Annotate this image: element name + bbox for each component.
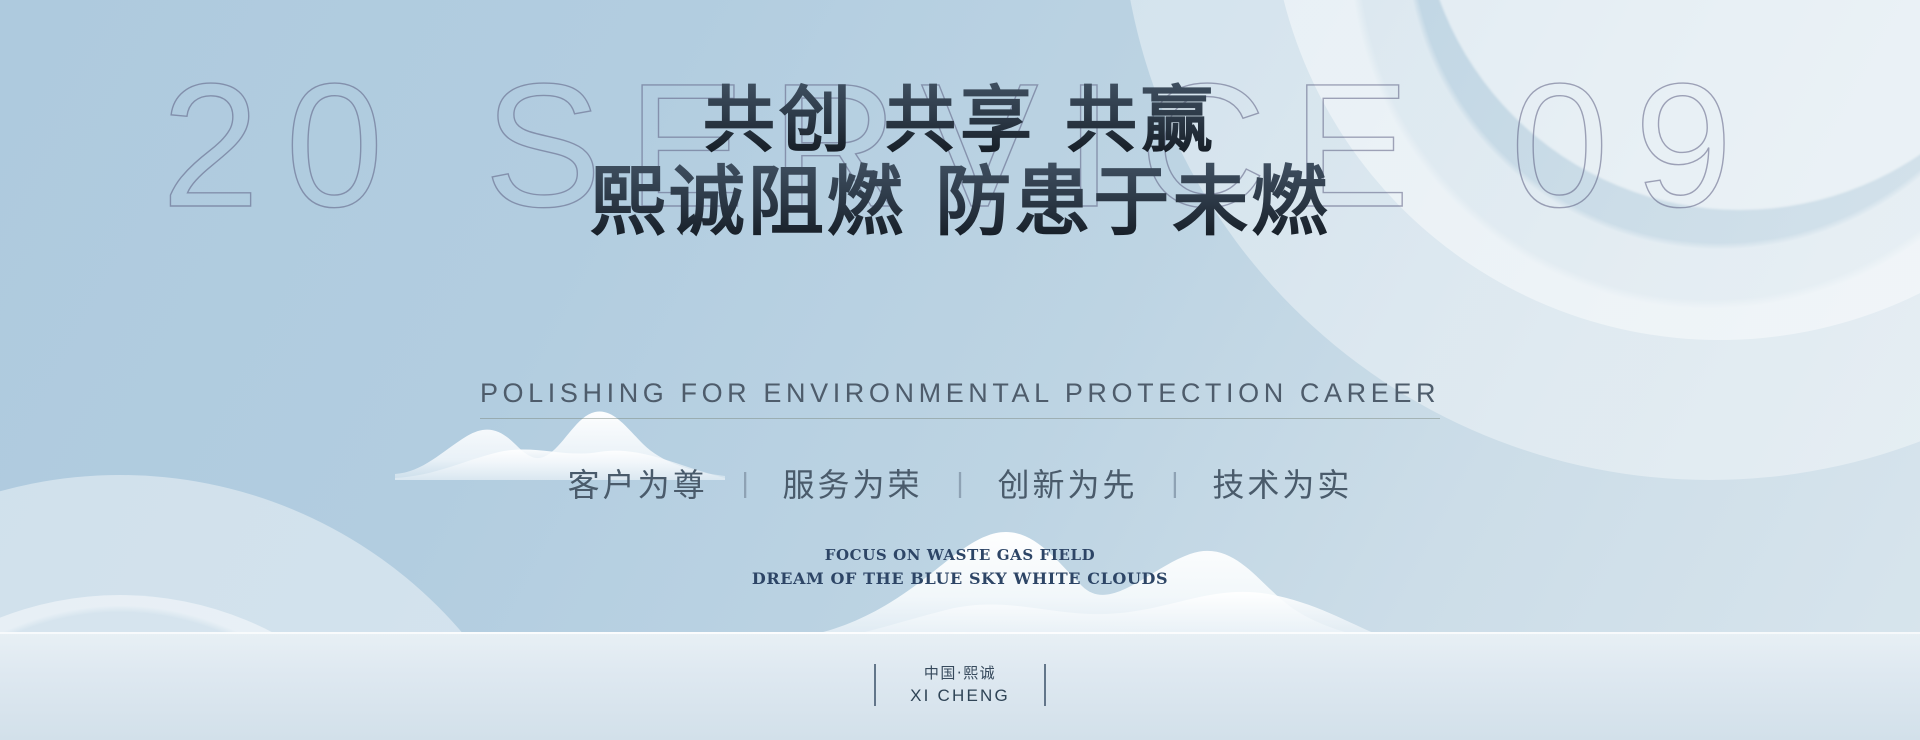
banner-canvas: 20 SERVICE 09 共创 共享 共赢 熙诚阻燃 防患于未燃 POLISH…	[0, 0, 1920, 740]
brand-name: 中国·熙诚 XI CHENG	[910, 662, 1010, 707]
brand-name-cn: 中国·熙诚	[910, 662, 1010, 685]
value-item-4: 技术为实	[1212, 460, 1352, 506]
strapline-text: POLISHING FOR ENVIRONMENTAL PROTECTION C…	[480, 378, 1440, 419]
sub-serif-line-2: DREAM OF THE BLUE SKY WHITE CLOUDS	[0, 567, 1920, 590]
value-separator-2: |	[927, 467, 993, 499]
values-row: 客户为尊 | 服务为荣 | 创新为先 | 技术为实	[0, 460, 1920, 506]
headline-line-1: 共创 共享 共赢	[0, 82, 1920, 158]
lockup-rule-left	[874, 664, 876, 706]
value-item-2: 服务为荣	[783, 460, 923, 506]
lockup-rule-right	[1044, 664, 1046, 706]
value-separator-3: |	[1142, 467, 1208, 499]
headline-line-2: 熙诚阻燃 防患于未燃	[0, 162, 1920, 243]
sub-serif-block: FOCUS ON WASTE GAS FIELD DREAM OF THE BL…	[0, 545, 1920, 590]
brand-lockup: 中国·熙诚 XI CHENG	[0, 662, 1920, 707]
value-item-1: 客户为尊	[568, 460, 708, 506]
horizon-line	[0, 632, 1920, 634]
headline-block: 共创 共享 共赢 熙诚阻燃 防患于未燃	[0, 82, 1920, 243]
value-item-3: 创新为先	[997, 460, 1137, 506]
strapline-block: POLISHING FOR ENVIRONMENTAL PROTECTION C…	[0, 378, 1920, 419]
brand-name-en: XI CHENG	[910, 685, 1010, 708]
value-separator-1: |	[712, 467, 778, 499]
sub-serif-line-1: FOCUS ON WASTE GAS FIELD	[0, 545, 1920, 567]
